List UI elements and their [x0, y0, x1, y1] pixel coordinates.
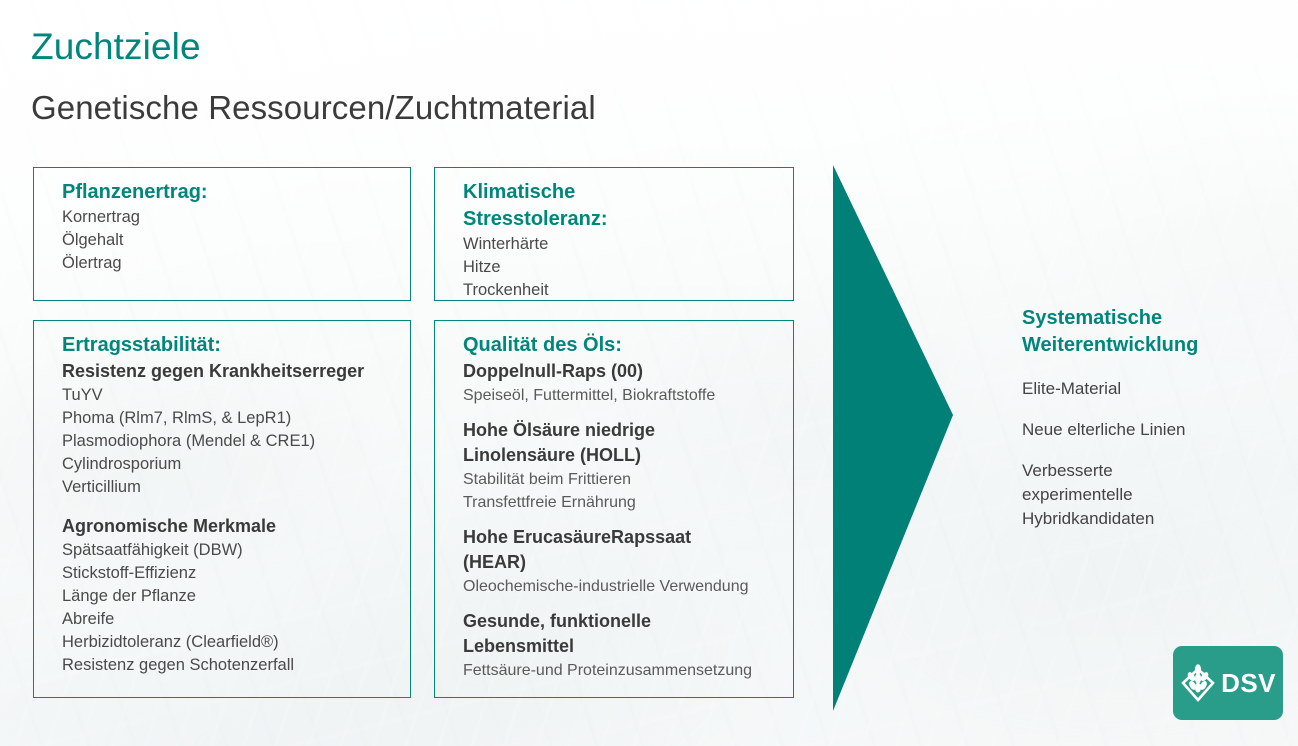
- outcome-column: Systematische Weiterentwicklung Elite-Ma…: [1022, 305, 1284, 531]
- card-content: Klimatische Stresstoleranz: Winterhärte …: [463, 179, 787, 302]
- page-subtitle: Genetische Ressourcen/Zuchtmaterial: [31, 89, 596, 127]
- list-item: Phoma (Rlm7, RlmS, & LepR1): [62, 407, 404, 430]
- list-item: Stickstoff-Effizienz: [62, 562, 404, 585]
- right-arrow-triangle-icon: [833, 165, 953, 711]
- group-subheading: Resistenz gegen Krankheitserreger: [62, 359, 404, 384]
- list-item: Fettsäure-und Proteinzusammensetzung: [463, 659, 787, 682]
- list-item: Hitze: [463, 256, 787, 279]
- group-subheading: Hohe Ölsäure niedrige Linolensäure (HOLL…: [463, 418, 787, 468]
- card-content: Pflanzenertrag: Kornertrag Ölgehalt Öler…: [62, 179, 404, 275]
- spacer: [463, 598, 787, 609]
- card-klimatische-stresstoleranz: Klimatische Stresstoleranz: Winterhärte …: [434, 167, 794, 301]
- list-item: Plasmodiophora (Mendel & CRE1): [62, 430, 404, 453]
- list-item: Verticillium: [62, 476, 404, 499]
- card-heading: Qualität des Öls:: [463, 332, 787, 359]
- list-item: Abreife: [62, 608, 404, 631]
- card-ertragsstabilitaet: Ertragsstabilität: Resistenz gegen Krank…: [33, 320, 411, 698]
- outcome-item: Elite-Material: [1022, 377, 1284, 401]
- list-item: Cylindrosporium: [62, 453, 404, 476]
- card-heading: Klimatische Stresstoleranz:: [463, 179, 787, 233]
- list-item: Resistenz gegen Schotenzerfall: [62, 654, 404, 677]
- list-item: Transfettfreie Ernährung: [463, 491, 787, 514]
- card-pflanzenertrag: Pflanzenertrag: Kornertrag Ölgehalt Öler…: [33, 167, 411, 301]
- list-item: Oleochemische-industrielle Verwendung: [463, 575, 787, 598]
- card-content: Qualität des Öls: Doppelnull-Raps (00) S…: [463, 332, 787, 682]
- dsv-wheat-diamond-icon: [1180, 663, 1216, 703]
- group-subheading: Gesunde, funktionelle Lebensmittel: [463, 609, 787, 659]
- list-item: Herbizidtoleranz (Clearfield®): [62, 631, 404, 654]
- list-item: Spätsaatfähigkeit (DBW): [62, 539, 404, 562]
- dsv-wordmark: DSV: [1221, 670, 1276, 696]
- outcome-item: Verbesserte experimentelle Hybridkandida…: [1022, 459, 1284, 531]
- list-item: Ölertrag: [62, 252, 404, 275]
- group-subheading: Agronomische Merkmale: [62, 514, 404, 539]
- list-item: Kornertrag: [62, 206, 404, 229]
- list-item: Stabilität beim Frittieren: [463, 468, 787, 491]
- card-content: Ertragsstabilität: Resistenz gegen Krank…: [62, 332, 404, 677]
- list-item: Speiseöl, Futtermittel, Biokraftstoffe: [463, 384, 787, 407]
- card-heading: Ertragsstabilität:: [62, 332, 404, 359]
- card-qualitaet-des-oels: Qualität des Öls: Doppelnull-Raps (00) S…: [434, 320, 794, 698]
- dsv-logo: DSV: [1173, 646, 1283, 720]
- list-item: Länge der Pflanze: [62, 585, 404, 608]
- slide-canvas: Zuchtziele Genetische Ressourcen/Zuchtma…: [0, 0, 1298, 746]
- outcome-heading: Systematische Weiterentwicklung: [1022, 305, 1284, 359]
- list-item: TuYV: [62, 384, 404, 407]
- list-item: Winterhärte: [463, 233, 787, 256]
- spacer: [62, 499, 404, 514]
- page-title: Zuchtziele: [31, 26, 201, 68]
- list-item: Ölgehalt: [62, 229, 404, 252]
- spacer: [463, 514, 787, 525]
- outcome-item: Neue elterliche Linien: [1022, 418, 1284, 442]
- spacer: [463, 407, 787, 418]
- card-heading: Pflanzenertrag:: [62, 179, 404, 206]
- group-subheading: Doppelnull-Raps (00): [463, 359, 787, 384]
- list-item: Trockenheit: [463, 279, 787, 302]
- group-subheading: Hohe ErucasäureRapssaat (HEAR): [463, 525, 787, 575]
